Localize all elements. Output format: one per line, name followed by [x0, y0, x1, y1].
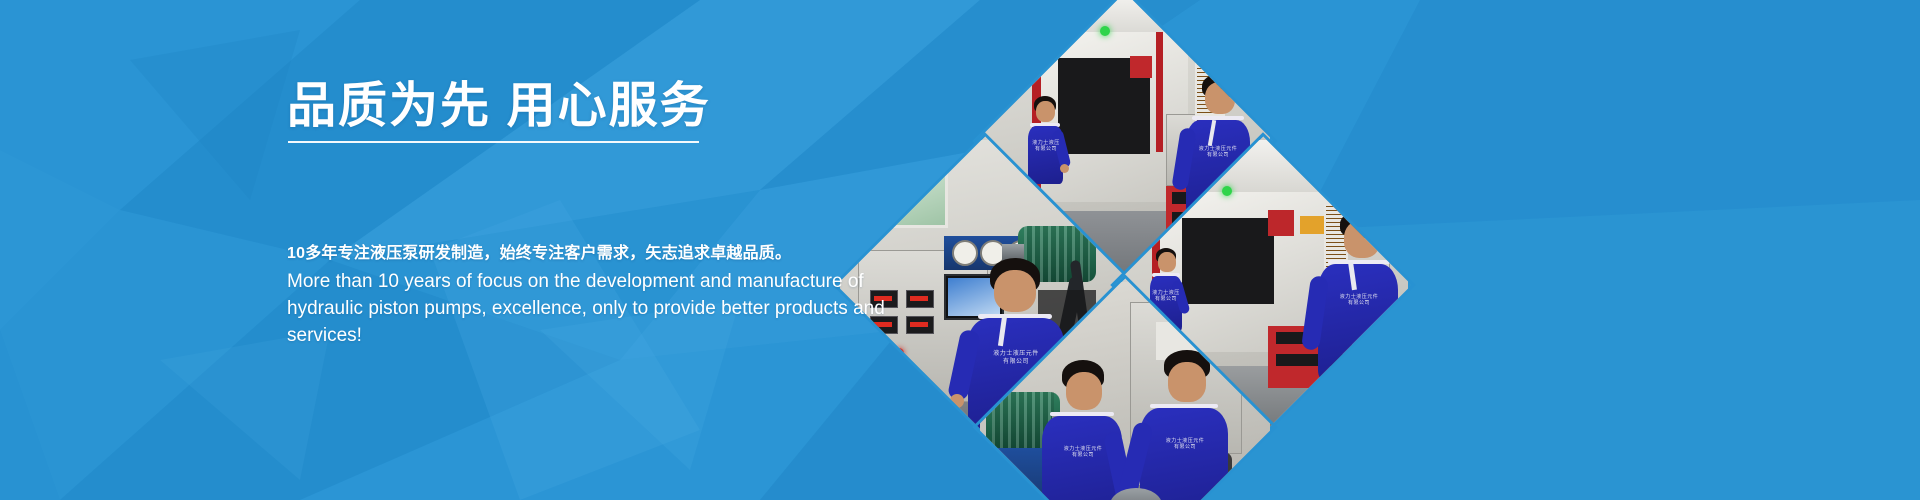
banner-subtitle-chinese: 10多年专注液压泵研发制造，始终专注客户需求，矢志追求卓越品质。	[287, 239, 791, 263]
banner-headline: 品质为先 用心服务	[287, 81, 711, 132]
banner-subtitle-english: More than 10 years of focus on the devel…	[287, 269, 927, 350]
diamond-photo-collage: 液力士液压有限公司 液力士液压元件有限公司	[880, 0, 1360, 500]
banner-text-block: 品质为先 用心服务 10多年专注液压泵研发制造，始终专注客户需求，矢志追求卓越品…	[287, 0, 927, 500]
company-banner: 品质为先 用心服务 10多年专注液压泵研发制造，始终专注客户需求，矢志追求卓越品…	[0, 0, 1920, 500]
headline-underline	[288, 141, 699, 143]
